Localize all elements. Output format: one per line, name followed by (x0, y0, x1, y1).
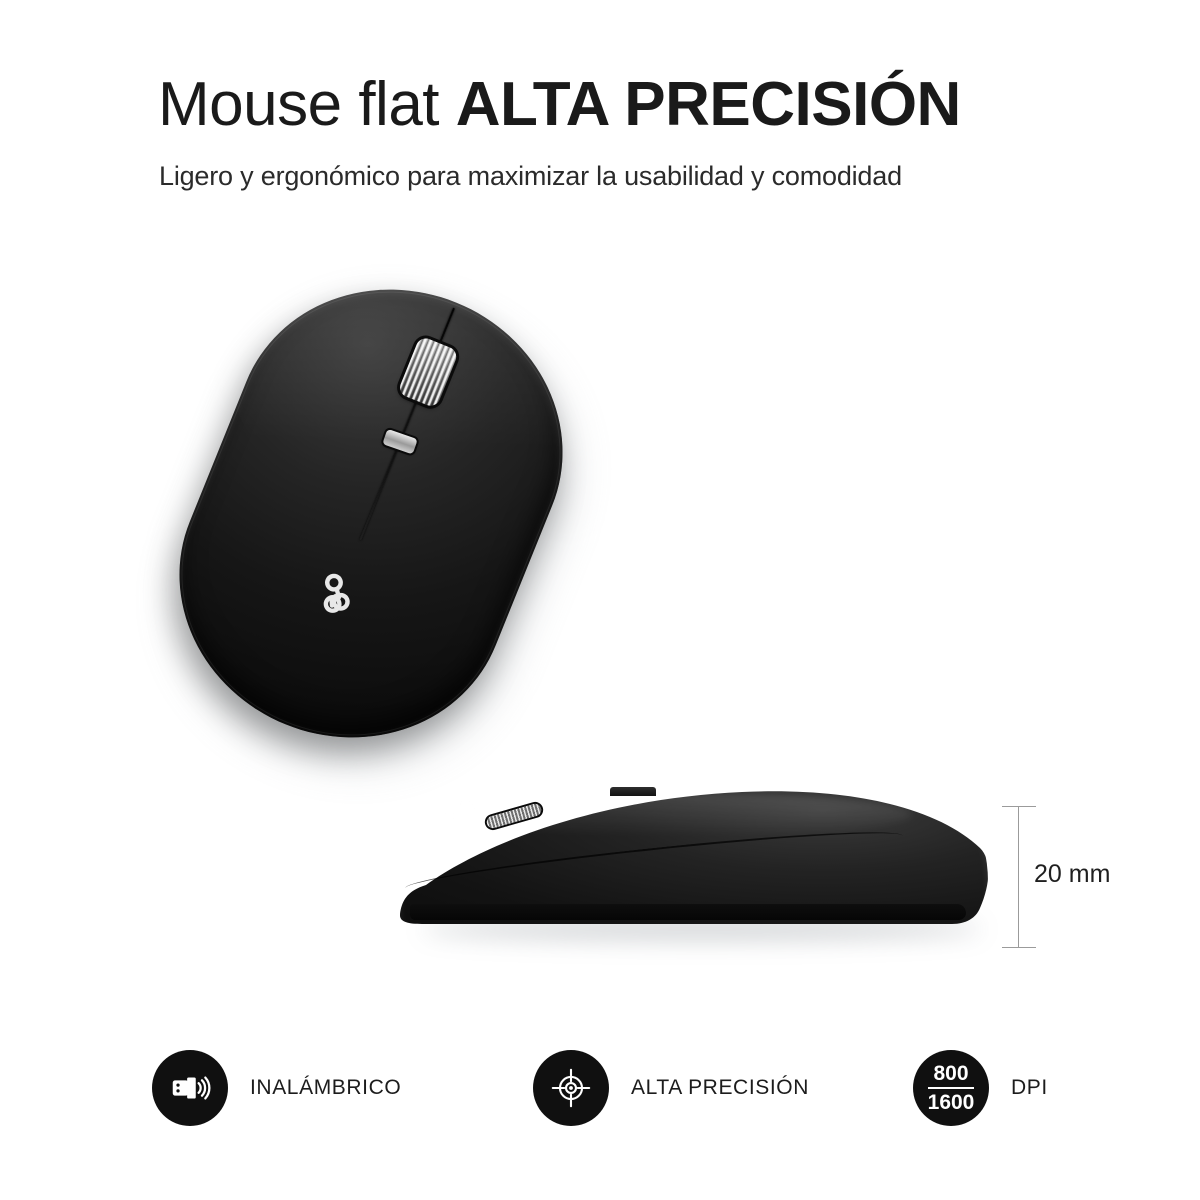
dimension-label: 20 mm (1034, 860, 1110, 889)
feature-item-dpi: 800 1600 DPI (913, 1042, 1048, 1134)
page-subtitle: Ligero y ergonómico para maximizar la us… (159, 158, 1119, 194)
feature-item-precision: ALTA PRECISIÓN (533, 1042, 809, 1134)
page-title: Mouse flat ALTA PRECISIÓN (158, 70, 1118, 140)
brand-logo (302, 563, 372, 633)
mouse-top-view-image (148, 248, 668, 778)
scroll-wheel (397, 335, 459, 408)
title-light-part: Mouse flat (158, 70, 456, 139)
dpi-high-value: 1600 (928, 1089, 975, 1113)
scroll-wheel-side (485, 803, 542, 830)
dimension-callout: 20 mm (1010, 800, 1150, 955)
mouse-side-view-image (382, 778, 1002, 963)
feature-label-precision: ALTA PRECISIÓN (631, 1076, 809, 1100)
feature-label-dpi: DPI (1011, 1076, 1048, 1100)
mouse-button-split-line (359, 308, 455, 541)
mouse-top-body (133, 241, 609, 786)
crosshair-target-icon (533, 1050, 609, 1126)
feature-row: INALÁMBRICO ALTA P (0, 1042, 1200, 1142)
dpi-switch-button (382, 429, 417, 455)
feature-label-wireless: INALÁMBRICO (250, 1076, 401, 1100)
mouse-top-shell (133, 241, 609, 786)
dimension-cap-top (1002, 806, 1036, 807)
dimension-line (1018, 806, 1019, 948)
wireless-usb-dongle-icon (152, 1050, 228, 1126)
dimension-cap-bottom (1002, 947, 1036, 948)
feature-item-wireless: INALÁMBRICO (152, 1042, 401, 1134)
title-bold-part: ALTA PRECISIÓN (456, 70, 961, 139)
mouse-side-base (410, 904, 966, 920)
dpi-switch-button-side (610, 787, 656, 796)
dpi-fraction: 800 1600 (928, 1063, 975, 1113)
dpi-value-icon: 800 1600 (913, 1050, 989, 1126)
dpi-low-value: 800 (928, 1063, 975, 1087)
product-banner: Mouse flat ALTA PRECISIÓN Ligero y ergon… (0, 0, 1200, 1200)
